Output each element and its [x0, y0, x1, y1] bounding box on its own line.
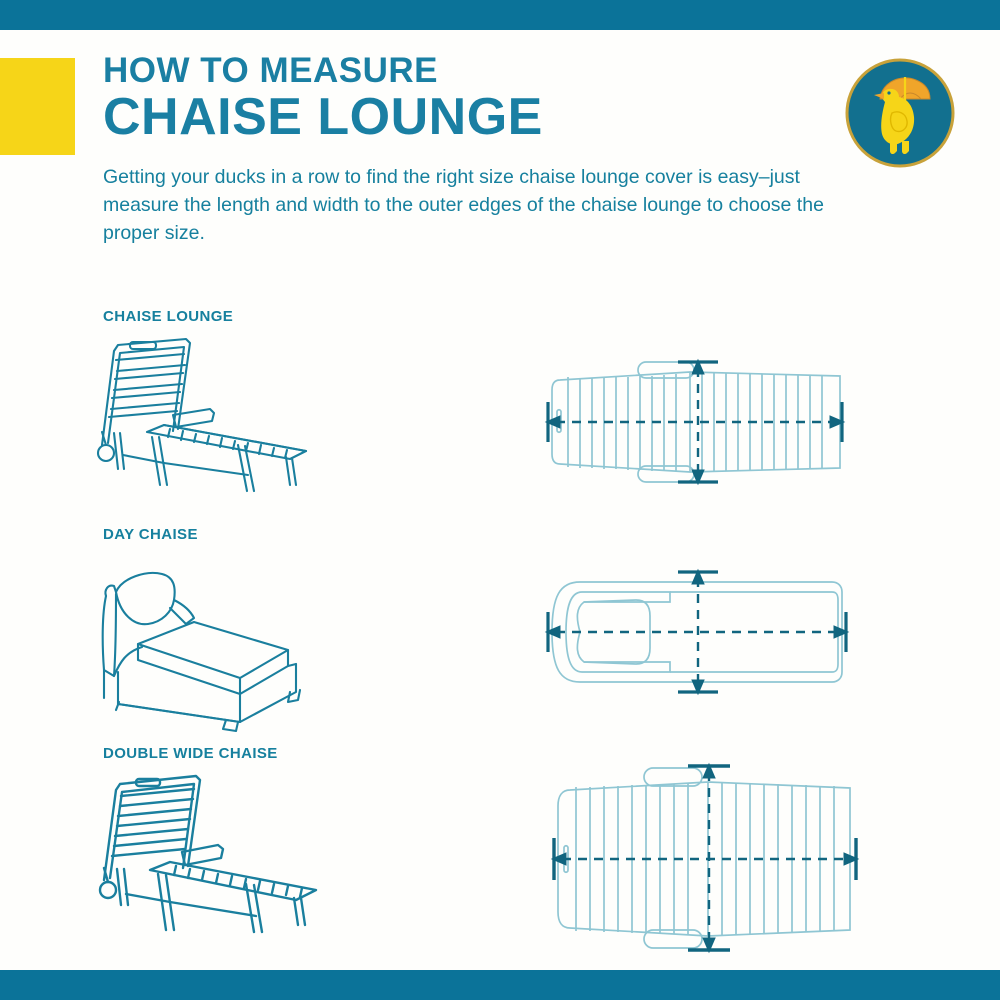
chaise-lounge-perspective-illustration: [90, 333, 350, 493]
day-chaise-top-view-diagram: [540, 568, 860, 696]
chaise-lounge-top-view-diagram: [540, 358, 860, 486]
day-chaise-perspective-illustration: [90, 552, 350, 727]
duck-with-umbrella-logo: [844, 57, 956, 169]
section-label-double-wide-chaise: DOUBLE WIDE CHAISE: [103, 745, 278, 762]
bottom-accent-bar: [0, 970, 1000, 1000]
header: HOW TO MEASURE CHAISE LOUNGE Getting you…: [103, 52, 823, 247]
section-label-chaise-lounge: CHAISE LOUNGE: [103, 308, 233, 325]
page-title-line-2: CHAISE LOUNGE: [103, 90, 823, 145]
length-measurement-arrow: [552, 838, 858, 880]
double-wide-chaise-perspective-illustration: [90, 770, 350, 935]
top-accent-bar: [0, 0, 1000, 30]
length-measurement-arrow: [546, 402, 844, 442]
yellow-accent-block: [0, 58, 75, 155]
infographic-page: HOW TO MEASURE CHAISE LOUNGE Getting you…: [0, 0, 1000, 1000]
double-wide-chaise-top-view-diagram: [540, 760, 870, 955]
section-label-day-chaise: DAY CHAISE: [103, 526, 198, 543]
page-title-line-1: HOW TO MEASURE: [103, 52, 823, 90]
page-subtitle: Getting your ducks in a row to find the …: [103, 163, 833, 247]
